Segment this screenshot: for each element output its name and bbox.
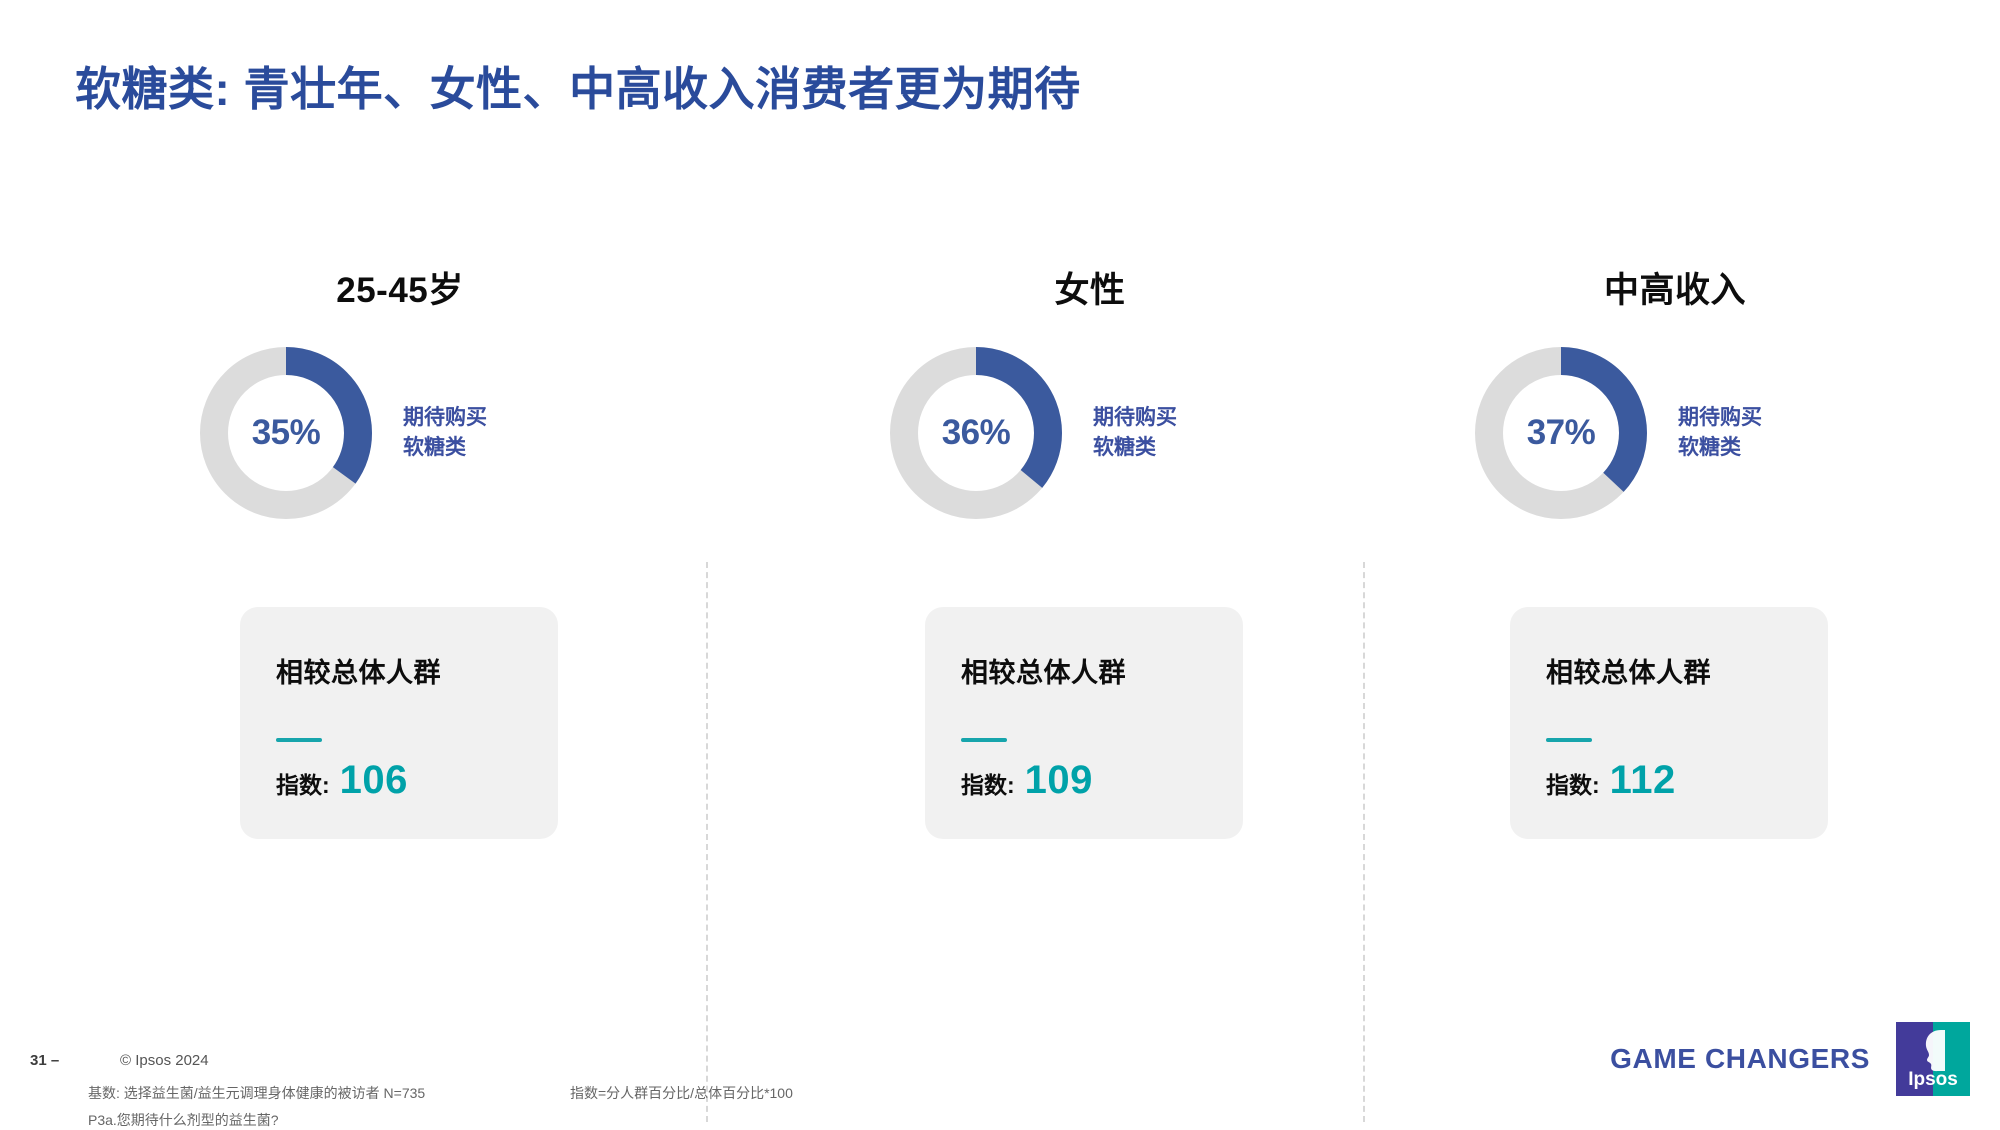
donut-legend-line2: 软糖类 xyxy=(1093,433,1177,463)
donut-chart-group: 36% 期待购买 软糖类 xyxy=(885,342,1177,524)
ipsos-logo-icon: Ipsos xyxy=(1896,1022,1970,1096)
index-label: 指数: xyxy=(1546,766,1600,800)
brand-lockup: GAME CHANGERS Ipsos xyxy=(1610,1022,1970,1096)
index-card-divider xyxy=(276,738,322,742)
index-card: 相较总体人群 指数: 106 xyxy=(240,607,558,839)
donut-legend-line1: 期待购买 xyxy=(403,403,487,433)
donut-percent-value: 36% xyxy=(885,342,1067,524)
base-note: 基数: 选择益生菌/益生元调理身体健康的被访者 N=735 xyxy=(88,1083,425,1103)
index-card-title: 相较总体人群 xyxy=(961,651,1243,690)
comparison-columns: 25-45岁 35% 期待购买 软糖类 相较总体人群 指数: 106 xyxy=(0,262,2000,882)
donut-percent-value: 37% xyxy=(1470,342,1652,524)
column-divider xyxy=(706,562,708,1122)
donut-legend-line2: 软糖类 xyxy=(403,433,487,463)
donut-legend-label: 期待购买 软糖类 xyxy=(1093,403,1177,464)
donut-chart: 36% xyxy=(885,342,1067,524)
page-number: 31 – xyxy=(30,1052,59,1069)
index-label: 指数: xyxy=(276,766,330,800)
index-label: 指数: xyxy=(961,766,1015,800)
index-card-value-row: 指数: 106 xyxy=(276,758,558,803)
index-value: 109 xyxy=(1025,758,1093,803)
donut-percent-value: 35% xyxy=(195,342,377,524)
donut-legend-line1: 期待购买 xyxy=(1093,403,1177,433)
index-value: 112 xyxy=(1610,758,1676,803)
index-card-divider xyxy=(1546,738,1592,742)
donut-chart-group: 37% 期待购买 软糖类 xyxy=(1470,342,1762,524)
donut-chart: 37% xyxy=(1470,342,1652,524)
donut-chart: 35% xyxy=(195,342,377,524)
segment-column-mid-high-income: 中高收入 37% 期待购买 软糖类 相较总体人群 指数: 112 xyxy=(1340,262,1940,882)
segment-header: 25-45岁 xyxy=(190,262,610,313)
segment-header: 女性 xyxy=(880,262,1300,313)
index-card: 相较总体人群 指数: 109 xyxy=(925,607,1243,839)
index-card-title: 相较总体人群 xyxy=(1546,651,1828,690)
index-card-title: 相较总体人群 xyxy=(276,651,558,690)
donut-legend-label: 期待购买 软糖类 xyxy=(403,403,487,464)
page-title: 软糖类: 青壮年、女性、中高收入消费者更为期待 xyxy=(75,62,1081,117)
segment-header: 中高收入 xyxy=(1465,262,1885,313)
index-card: 相较总体人群 指数: 112 xyxy=(1510,607,1828,839)
donut-legend-line2: 软糖类 xyxy=(1678,433,1762,463)
question-note: P3a.您期待什么剂型的益生菌? xyxy=(88,1110,279,1130)
index-value: 106 xyxy=(340,758,408,803)
index-card-value-row: 指数: 109 xyxy=(961,758,1243,803)
svg-text:Ipsos: Ipsos xyxy=(1908,1069,1958,1090)
brand-tagline: GAME CHANGERS xyxy=(1610,1043,1870,1075)
index-card-value-row: 指数: 112 xyxy=(1546,758,1828,803)
index-definition-note: 指数=分人群百分比/总体百分比*100 xyxy=(570,1083,793,1103)
segment-column-25-45: 25-45岁 35% 期待购买 软糖类 相较总体人群 指数: 106 xyxy=(100,262,700,882)
segment-column-female: 女性 36% 期待购买 软糖类 相较总体人群 指数: 109 xyxy=(755,262,1355,882)
column-divider xyxy=(1363,562,1365,1122)
copyright-text: © Ipsos 2024 xyxy=(120,1052,209,1069)
donut-legend-label: 期待购买 软糖类 xyxy=(1678,403,1762,464)
donut-chart-group: 35% 期待购买 软糖类 xyxy=(195,342,487,524)
index-card-divider xyxy=(961,738,1007,742)
donut-legend-line1: 期待购买 xyxy=(1678,403,1762,433)
